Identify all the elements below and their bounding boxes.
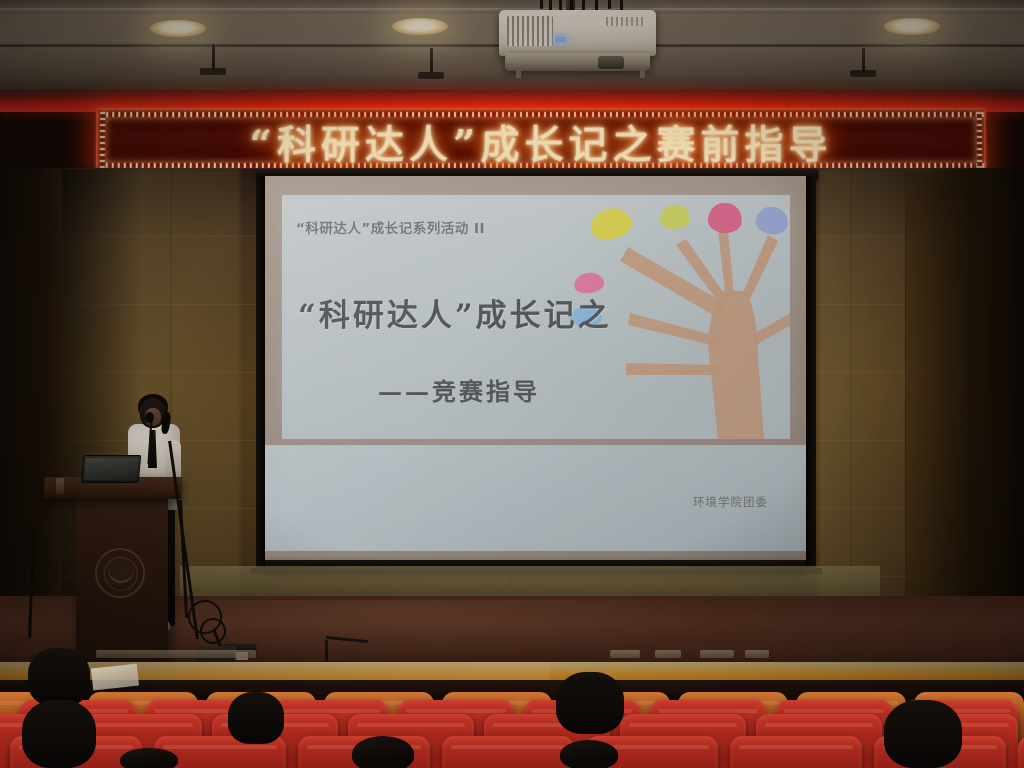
ceiling-downlight — [150, 20, 206, 37]
slide-footer-text: 环境学院团委 — [693, 494, 768, 510]
front-ledge-item — [700, 650, 734, 658]
slide-title-text: “科研达人”成长记之 — [298, 290, 612, 335]
projector-foot — [516, 68, 521, 78]
wall-column-right — [905, 172, 977, 642]
audience-member-head — [120, 748, 178, 768]
ceiling-downlight — [884, 18, 940, 35]
seat-highlight — [451, 745, 565, 749]
screen-edge-left — [256, 176, 265, 568]
laptop-screen — [84, 458, 138, 480]
ceiling-mount — [200, 68, 226, 75]
seat-highlight — [85, 723, 193, 727]
banner-text: “科研达人”成长记之赛前指导 — [98, 116, 985, 168]
seat-highlight — [739, 745, 853, 749]
seat-highlight — [784, 709, 884, 713]
audience-member-head — [560, 740, 618, 768]
projector-vent-icon — [507, 16, 553, 46]
projector-vent-icon — [606, 17, 646, 26]
led-banner: “科研达人”成长记之赛前指导 — [96, 108, 987, 172]
audience-member-head — [22, 700, 96, 768]
projector-power-led — [555, 37, 566, 42]
auditorium-seat — [730, 736, 862, 768]
microphone-head-icon — [145, 412, 154, 423]
stage-back-skirt — [180, 566, 880, 600]
slide-header-text: “科研达人”成长记系列活动 II — [296, 217, 485, 237]
ceiling-projector — [499, 10, 656, 56]
seat-highlight — [357, 723, 465, 727]
water-bottle — [56, 478, 64, 494]
projected-slide: “科研达人”成长记系列活动 II “科研达人”成长记之 ——竞赛指导 — [282, 195, 790, 439]
seat-highlight — [406, 709, 506, 713]
front-ledge-item — [610, 650, 640, 658]
lecture-hall-photo: “科研达人”成长记之赛前指导 “科研达人”成长记系列活动 II “科研达人”成长… — [0, 0, 1024, 768]
ceiling-downlight — [392, 18, 448, 35]
audience-member-head — [28, 648, 90, 706]
front-ledge-item — [745, 650, 769, 658]
presenter-laptop — [81, 455, 141, 483]
projector-lower-body — [505, 53, 650, 71]
seat-highlight — [658, 709, 758, 713]
audience-member-head — [884, 700, 962, 768]
audience-member-head — [228, 692, 284, 744]
ceiling-mount — [850, 70, 876, 77]
projector-foot — [640, 68, 645, 78]
audience-member-head — [352, 736, 414, 768]
front-ledge — [96, 650, 256, 658]
ceiling-hook — [430, 48, 433, 74]
seat-highlight — [765, 723, 873, 727]
auditorium-seat — [442, 736, 574, 768]
auditorium-seat — [1018, 736, 1024, 768]
slide-footer-panel: 环境学院团委 — [282, 448, 790, 520]
university-crest-icon — [95, 548, 145, 598]
slide-subtitle-text: ——竞赛指导 — [378, 372, 540, 407]
seat-highlight — [163, 745, 277, 749]
ceiling-hook — [212, 44, 215, 70]
seat-highlight — [629, 723, 737, 727]
screen-edge-right — [806, 176, 816, 568]
projector-lens — [598, 56, 624, 69]
front-ledge-item — [655, 650, 681, 658]
audience-member-head — [556, 672, 624, 734]
stage-front-lit — [130, 662, 550, 680]
seat-highlight — [280, 709, 380, 713]
